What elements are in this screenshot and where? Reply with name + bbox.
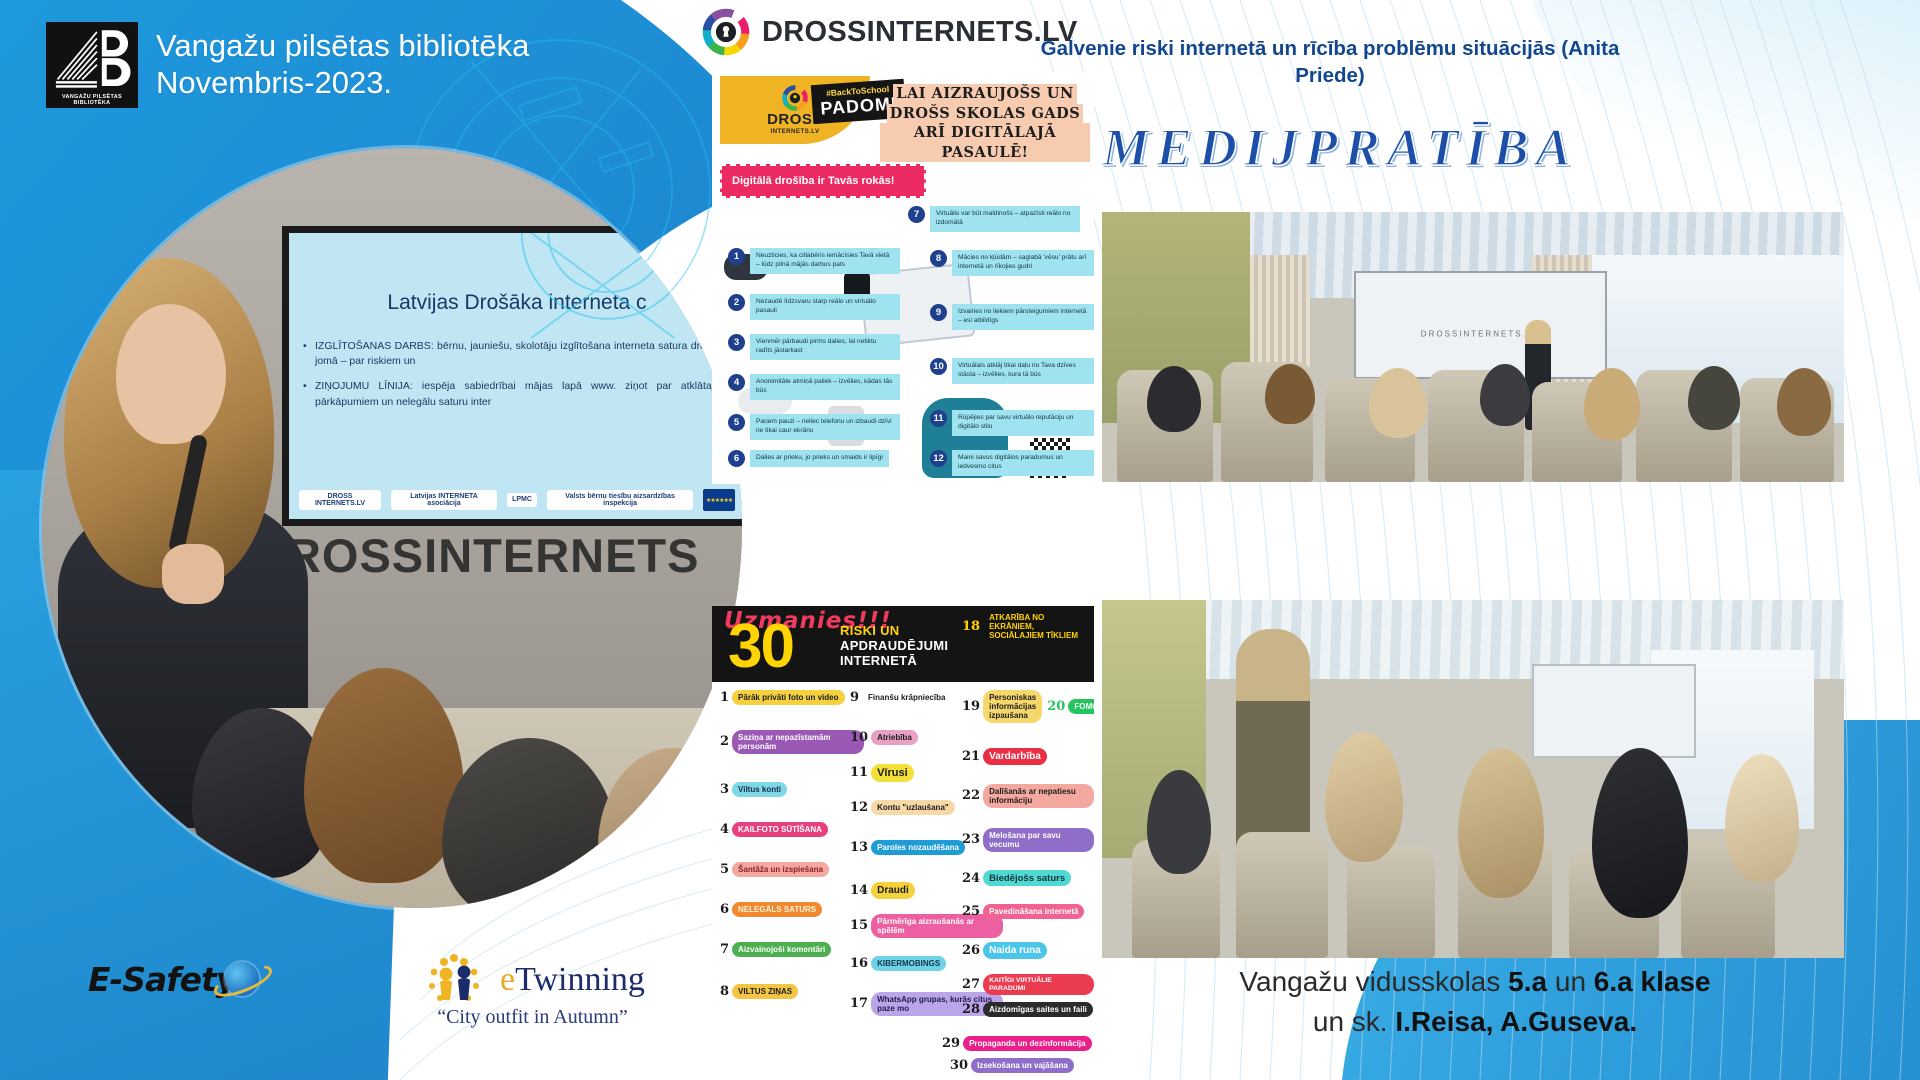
risk-label: NELEGĀLS SATURS (732, 902, 822, 916)
risk-item: 16 KIBERMOBINGS (850, 956, 946, 971)
risk-number: 23 (962, 832, 980, 847)
photo-seat (1347, 846, 1435, 958)
photo-audience-head (1147, 770, 1211, 874)
risk-item: 1 Pārāk privāti foto un video (720, 690, 845, 705)
caption-class-2: 6.a klase (1594, 966, 1711, 997)
risk-label: KIBERMOBINGS (871, 956, 946, 970)
risk-label: Biedējošs saturs (983, 870, 1071, 886)
library-period: Novembris-2023. (156, 65, 529, 102)
esafety-label: E-Safety (88, 960, 236, 999)
poster-tip-text: Rūpējies par savu virtuālo reputāciju un… (952, 410, 1094, 436)
poster-tip-number: 6 (728, 450, 745, 467)
risk-number: 15 (850, 918, 868, 933)
poster-tip: 7 Virtuālis var būt maldinošs – atpazīst… (908, 206, 1080, 232)
risk-label: Propaganda un dezinformācija (963, 1036, 1091, 1050)
photo-audience-hall-bottom (1102, 600, 1844, 958)
poster-tip-number: 11 (930, 410, 947, 427)
poster-risks-headline-l1: RISKI UN (840, 624, 948, 639)
risk-label: Naida runa (983, 942, 1047, 959)
risk-number: 26 (962, 943, 980, 958)
photo-audience-head (1325, 732, 1403, 862)
risk-label: Pārāk privāti foto un video (732, 690, 844, 704)
eu-flag-icon (703, 489, 735, 511)
risk-item: 28 Aizdomīgas saites un faili (962, 1002, 1093, 1017)
photo-wall-branding: DROSSINTERNETS (252, 528, 700, 583)
caption-class-1: 5.a (1508, 966, 1547, 997)
risk-number: 9 (850, 690, 859, 705)
risk-number: 16 (850, 956, 868, 971)
risk-item: 14 Draudi (850, 882, 915, 899)
risk-label: Saziņa ar nepazīstamām personām (732, 730, 864, 754)
photo-speaker-presentation: DROSSINTERNETS Latvijas Drošāka internet… (42, 148, 742, 908)
library-branding: VANGAŽU PILSĒTAS BIBLIOTĒKA Vangažu pils… (46, 22, 529, 108)
photo-audience-head (1458, 748, 1544, 898)
risk-item: 13 Paroles nozaudēšana (850, 840, 965, 855)
risk-label: Draudi (871, 882, 915, 899)
risk-label: Viltus konti (732, 782, 787, 796)
risk-number: 10 (850, 730, 868, 745)
etwinning-label-e: e (500, 961, 515, 998)
caption-line-1: Vangažu vidusskolas 5.a un 6.a klase (1100, 962, 1850, 1002)
photo-hall: DROSSINTERNETS.LV (1102, 212, 1844, 482)
poster-tip-text: Vienmēr pārbaudi pirms dalies, lai netik… (750, 334, 900, 360)
poster-tip-text: Virtuālis var būt maldinošs – atpazīsti … (930, 206, 1080, 232)
risk-label: Paroles nozaudēšana (871, 840, 965, 854)
etwinning-label: eTwinning (500, 961, 645, 999)
poster-tip: 10 Virtuālais atklāj tikai daļu no Tava … (930, 358, 1094, 384)
risk-label: ATKARĪBA NO EKRĀNIEM, SOCIĀLAJIEM TĪKLIE… (983, 610, 1094, 643)
risk-number: 3 (720, 782, 729, 797)
risk-number: 2 (720, 734, 729, 749)
risk-label: Vīrusi (871, 764, 914, 782)
photo-audience-head (1147, 366, 1201, 432)
poster-tip-text: Izvairies no liekiem pārsteigumiem inter… (952, 304, 1094, 330)
risk-label: KAILFOTO SŪTĪŠANA (732, 822, 828, 836)
poster-tip: 6 Dalies ar prieku, jo prieks un smaids … (728, 450, 889, 467)
photo-audience-hall-top: DROSSINTERNETS.LV (1102, 212, 1844, 482)
etwinning-project-title: “City outfit in Autumn” (437, 1006, 628, 1029)
risk-item: 6 NELEGĀLS SATURS (720, 902, 822, 917)
risk-item: 5 Šantāža un izspiešana (720, 862, 829, 877)
poster-tip: 12 Maini savus digitālos paradumus un ie… (930, 450, 1094, 476)
library-title-block: Vangažu pilsētas bibliotēka Novembris-20… (156, 28, 529, 101)
speaker-face (116, 304, 226, 444)
risk-number: 28 (962, 1002, 980, 1017)
risk-item: 4 KAILFOTO SŪTĪŠANA (720, 822, 828, 837)
risk-label: FOMO (1068, 699, 1094, 713)
risk-item: 10 Atriebība (850, 730, 918, 745)
poster-tip-text: Neuzticies, ka citlabēris iemācīsies Tav… (750, 248, 900, 274)
event-caption: Vangažu vidusskolas 5.a un 6.a klase un … (1100, 962, 1850, 1042)
risk-number: 27 (962, 977, 980, 992)
risk-label: Melošana par savu vecumu (983, 828, 1094, 852)
slide-logo: Latvijas INTERNETA asociācija (391, 490, 497, 511)
risk-label: VILTUS ZIŅAS (732, 984, 798, 998)
risk-label: Vardarbība (983, 748, 1047, 765)
risk-label: Izsekošana un vajāšana (971, 1058, 1074, 1072)
risk-item: 12 Kontu "uzlaušana" (850, 800, 955, 815)
risk-item: 9 Finanšu krāpniecība (850, 690, 951, 705)
poster-tip-text: Virtuālais atklāj tikai daļu no Tava dzī… (952, 358, 1094, 384)
risk-number: 21 (962, 749, 980, 764)
risk-label: Pavedināšana internetā (983, 904, 1084, 918)
risk-number: 1 (720, 690, 729, 705)
poster-risks-headline: RISKI UN APDRAUDĒJUMI INTERNETĀ (840, 624, 948, 669)
risk-item: 11 Vīrusi (850, 764, 914, 782)
poster-tip: 1 Neuzticies, ka citlabēris iemācīsies T… (728, 248, 900, 274)
risk-item: 2 Saziņa ar nepazīstamām personām (720, 730, 864, 754)
risk-item: 29 Propaganda un dezinformācija (942, 1036, 1092, 1051)
poster-tip: 11 Rūpējies par savu virtuālo reputāciju… (930, 410, 1094, 436)
slide-decoration (289, 233, 742, 519)
poster-tip: 3 Vienmēr pārbaudi pirms dalies, lai net… (728, 334, 900, 360)
library-logo-mark (51, 27, 133, 93)
risk-number: 25 (962, 904, 980, 919)
risk-item: 26 Naida runa (962, 942, 1047, 959)
risk-number: 12 (850, 800, 868, 815)
poster-tip-text: Nezaudē līdzsvaru starp reālo un virtuāl… (750, 294, 900, 320)
poster-tip-number: 5 (728, 414, 745, 431)
risk-item: 18 ATKARĪBA NO EKRĀNIEM, SOCIĀLAJIEM TĪK… (962, 610, 1094, 643)
risk-number: 20 (1047, 699, 1065, 714)
risk-label: Personiskas informācijas izpaušana (983, 690, 1042, 723)
risk-number: 24 (962, 871, 980, 886)
risk-label: Finanšu krāpniecība (862, 690, 951, 704)
poster-risks-headline-l3: INTERNETĀ (840, 654, 948, 669)
caption-teacher-names: I.Reisa, A.Guseva. (1395, 1006, 1637, 1037)
poster-tip-text: Mācies no kļūdām – saglabā 'vēsu' prātu … (952, 250, 1094, 276)
photo-screen-watermark: DROSSINTERNETS.LV (1421, 329, 1540, 338)
risk-number: 19 (962, 699, 980, 714)
risk-item: 3 Viltus konti (720, 782, 787, 797)
poster-tip-text: Paņem pauzi – neliec telefonu un izbaudi… (750, 414, 900, 440)
caption-line-2: un sk. I.Reisa, A.Guseva. (1100, 1002, 1850, 1042)
projection-screen: Latvijas Drošāka interneta c IZGLĪTOŠANA… (282, 226, 742, 526)
poster-tip-number: 4 (728, 374, 745, 391)
library-name: Vangažu pilsētas bibliotēka (156, 28, 529, 65)
etwinning-people-icon (420, 952, 494, 1008)
caption-teacher-prefix: un sk. (1313, 1006, 1395, 1037)
etwinning-row: eTwinning (420, 952, 645, 1008)
poster-brand-domain: INTERNETS.LV (770, 128, 819, 135)
drossinternets-logo-icon (702, 8, 750, 56)
risk-label: Aizdomīgas saites un faili (983, 1002, 1093, 1016)
risk-label: Aizvainojoši komentāri (732, 942, 831, 956)
risk-item: 24 Biedējošs saturs (962, 870, 1071, 886)
library-logo-caption: VANGAŽU PILSĒTAS BIBLIOTĒKA (46, 94, 138, 106)
poster-tip-text: Anonimitāte atmiņā paliek – izvēlies, kā… (750, 374, 900, 400)
slide-bullet: ZIŅOJUMU LĪNIJA: iespēja sabiedrībai māj… (303, 379, 731, 409)
risk-item: 7 Aizvainojoši komentāri (720, 942, 831, 957)
poster-tip-number: 8 (930, 250, 947, 267)
poster-tip: 2 Nezaudē līdzsvaru starp reālo un virtu… (728, 294, 900, 320)
risk-number: 30 (950, 1058, 968, 1073)
slide-logo: Valsts bērnu tiesību aizsardzības inspek… (547, 490, 693, 511)
poster-tip-number: 2 (728, 294, 745, 311)
poster-tip-number: 12 (930, 450, 947, 467)
poster-tip-number: 3 (728, 334, 745, 351)
risk-number: 5 (720, 862, 729, 877)
drossinternets-branding: DROSSINTERNETS.LV (702, 8, 1078, 56)
poster-callout: Digitālā drošība ir Tavās rokās! (720, 164, 926, 198)
slide-bullet: IZGLĪTOŠANAS DARBS: bērnu, jauniešu, sko… (303, 339, 731, 369)
risk-item: 30 Izsekošana un vajāšana (950, 1058, 1074, 1073)
risk-number: 4 (720, 822, 729, 837)
risk-number: 8 (720, 984, 729, 999)
poster-tip: 9 Izvairies no liekiem pārsteigumiem int… (930, 304, 1094, 330)
library-logo: VANGAŽU PILSĒTAS BIBLIOTĒKA (46, 22, 138, 108)
risk-label: Kontu "uzlaušana" (871, 800, 955, 814)
poster-tip-number: 1 (728, 248, 745, 265)
poster-tip-number: 10 (930, 358, 947, 375)
speaker-hand (162, 544, 224, 604)
risk-number: 18 (962, 619, 980, 634)
risk-number: 29 (942, 1036, 960, 1051)
risk-label: KAITĪGI VIRTUĀLIE PARADUMI (983, 974, 1094, 995)
slide-logo-row: DROSS INTERNETS.LV Latvijas INTERNETA as… (299, 489, 735, 511)
risk-label: Dalīšanās ar nepatiesu informāciju (983, 784, 1094, 808)
topic-heading: Galvenie riski internetā un rīcība probl… (1030, 36, 1630, 89)
poster-30-internet-risks: Uzmanies!!! 30 RISKI UN APDRAUDĒJUMI INT… (712, 606, 1094, 1080)
risk-label: Šantāža un izspiešana (732, 862, 829, 876)
risk-number: 11 (850, 765, 868, 780)
poster-tip-number: 7 (908, 206, 925, 223)
risk-number: 22 (962, 788, 980, 803)
risk-item: 23 Melošana par savu vecumu (962, 828, 1094, 852)
photo-seat (1236, 832, 1328, 958)
risk-number: 6 (720, 902, 729, 917)
risk-item: 21 Vardarbība (962, 748, 1047, 765)
page-title: MEDIJPRATĪBA (1020, 118, 1660, 178)
risk-label: Atriebība (871, 730, 918, 744)
photo-wall-panel (1532, 664, 1695, 757)
risk-item: 25 Pavedināšana internetā (962, 904, 1084, 919)
photo-hall (1102, 600, 1844, 958)
etwinning-label-rest: Twinning (515, 961, 645, 998)
poster-tip: 5 Paņem pauzi – neliec telefonu un izbau… (728, 414, 900, 440)
poster-tip: 8 Mācies no kļūdām – saglabā 'vēsu' prāt… (930, 250, 1094, 276)
slide-logo: DROSS INTERNETS.LV (299, 490, 381, 511)
poster-tip-text: Maini savus digitālos paradumus un iedve… (952, 450, 1094, 476)
etwinning-logo: eTwinning “City outfit in Autumn” (420, 952, 645, 1029)
poster-tip: 4 Anonimitāte atmiņā paliek – izvēlies, … (728, 374, 900, 400)
caption-school: Vangažu vidusskolas (1239, 966, 1508, 997)
photo-projection-screen: DROSSINTERNETS.LV (1354, 271, 1606, 379)
risk-item: 27 KAITĪGI VIRTUĀLIE PARADUMI (962, 974, 1094, 995)
poster-tip-number: 9 (930, 304, 947, 321)
risk-number: 7 (720, 942, 729, 957)
risk-number: 13 (850, 840, 868, 855)
poster-risks-headline-l2: APDRAUDĒJUMI (840, 639, 948, 654)
risk-number: 14 (850, 883, 868, 898)
drossinternets-logo-icon (782, 85, 808, 111)
poster-risk-count: 30 (728, 618, 793, 675)
risk-item: 8 VILTUS ZIŅAS (720, 984, 798, 999)
esafety-logo: E-Safety (88, 960, 236, 999)
caption-conjunction: un (1547, 966, 1594, 997)
risk-item: 22 Dalīšanās ar nepatiesu informāciju (962, 784, 1094, 808)
risk-number: 17 (850, 996, 868, 1011)
poster-tip-text: Dalies ar prieku, jo prieks un smaids ir… (750, 450, 889, 467)
risk-item: 19 Personiskas informācijas izpaušana 20… (962, 690, 1094, 723)
slide-logo: LPMC (507, 493, 537, 506)
